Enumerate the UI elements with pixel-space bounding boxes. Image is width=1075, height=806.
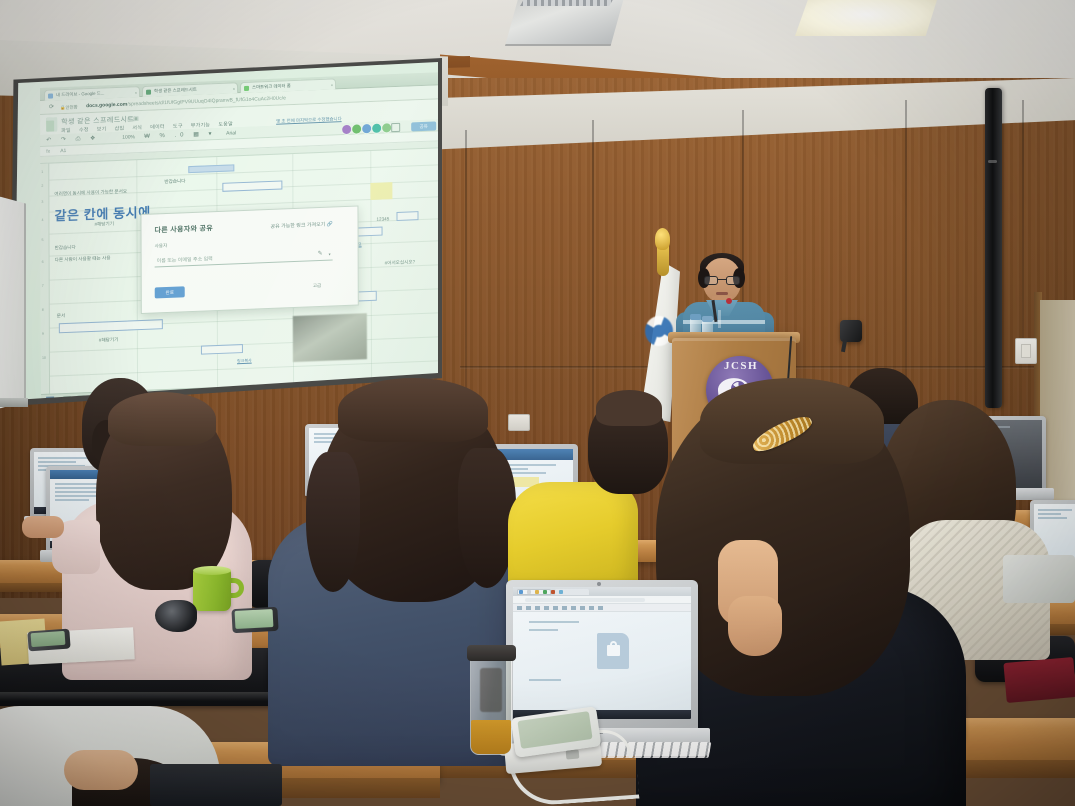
cell-input-box[interactable] [396, 211, 418, 221]
laptop-foreground[interactable] [506, 580, 698, 730]
presenter-placket [718, 310, 721, 328]
cell-input-box[interactable] [201, 344, 243, 355]
wall-outlet [508, 414, 530, 431]
water-bottle-cap [690, 314, 701, 320]
cell-reference[interactable]: A1 [60, 148, 66, 154]
green-mug [193, 569, 231, 611]
close-icon[interactable]: × [233, 86, 235, 91]
smartphone-mid-screen [235, 609, 274, 629]
bottle-cap [467, 645, 516, 661]
star-icon[interactable]: ☆ ▣ [126, 115, 139, 122]
attendee-yellow-torso [508, 482, 638, 588]
air-vent [505, 0, 625, 46]
cell-text: 12345 [376, 216, 389, 222]
webcam-icon [597, 582, 601, 586]
attendee-bottom-left-hand [64, 750, 138, 790]
favicon-icon [48, 93, 53, 98]
favicon-icon [146, 90, 151, 95]
fx-icon: fx [46, 149, 50, 155]
tea-liquid [471, 720, 511, 754]
reload-icon[interactable]: ⟳ [48, 104, 55, 111]
attendee-right-front-fingers [728, 596, 782, 656]
red-notebook [1003, 657, 1075, 703]
projected-browser-window: 내 드라이브 - Google 드... × 학생 같은 스프레드시트 × 스마… [40, 72, 438, 400]
whiteboard [0, 195, 26, 410]
close-icon[interactable]: × [331, 82, 333, 87]
flag-tassel [657, 246, 669, 276]
podium-logo-text: JCSH [714, 360, 768, 372]
cell-text: #해당기기 [99, 337, 118, 344]
cell-text: 반갑습니다 [164, 178, 185, 185]
air-vent-slot [520, 0, 615, 6]
browser-tab-label: 학생 같은 스프레드시트 [154, 86, 197, 93]
whiteboard-tray [0, 398, 28, 407]
laptop-bottom-left[interactable] [150, 764, 282, 806]
share-button[interactable]: 공유 [411, 121, 436, 131]
cell-text: #해당기기 [94, 221, 113, 228]
zoom-level[interactable]: 100% [122, 134, 135, 141]
browser-tab-label: 스마트워크 데이터 폼 [252, 83, 291, 90]
link-icon: 🔗 [327, 221, 333, 227]
url-host: docs.google.com [86, 102, 127, 110]
pencil-icon[interactable]: ✎ [318, 250, 323, 257]
share-dialog-section-label: 사용자 [155, 243, 168, 249]
wall-speaker [840, 320, 862, 342]
tea-bag [480, 668, 502, 712]
attendee-center-hair-left [306, 452, 360, 592]
browser-tab-label: 내 드라이브 - Google 드... [56, 90, 104, 97]
ceiling-light-panel [795, 0, 937, 36]
wall-switch[interactable] [1021, 344, 1031, 358]
attendee-back-left-hair-top [108, 392, 216, 446]
share-done-button[interactable]: 완료 [155, 286, 185, 298]
cell-text: #어서오십시오? [385, 259, 415, 266]
water-bottle-cap [702, 316, 713, 322]
projection-screen: 내 드라이브 - Google 드... × 학생 같은 스프레드시트 × 스마… [14, 62, 438, 400]
flag-finial [655, 228, 670, 250]
chair-highlight [0, 692, 304, 701]
sheets-doc-icon [46, 117, 57, 131]
font-name[interactable]: Arial [226, 130, 236, 136]
security-label: 안전함 [66, 105, 78, 110]
column-speaker [985, 88, 1002, 408]
mug-rim [193, 566, 231, 575]
cell-text: 반갑습니다 [55, 245, 76, 252]
wall-seam [1022, 100, 1024, 350]
presenter-mouth [716, 292, 728, 295]
tablet[interactable] [1003, 555, 1075, 603]
highlighted-cell[interactable] [370, 182, 392, 200]
glasses-icon [704, 276, 740, 285]
attendee-back-left-hand [22, 516, 64, 538]
chevron-down-icon[interactable]: ▾ [329, 252, 331, 257]
close-icon[interactable]: × [135, 90, 137, 95]
attendee-yellow-hair-top [596, 390, 662, 426]
share-advanced-link[interactable]: 고급 [313, 283, 321, 289]
seminar-room-photo: 내 드라이브 - Google 드... × 학생 같은 스프레드시트 × 스마… [0, 0, 1075, 806]
usb-port-icon [566, 749, 580, 759]
comments-icon[interactable] [391, 123, 400, 132]
smartphone-left-screen [31, 631, 66, 647]
attendee-center-hair-top [338, 378, 488, 442]
embedded-image [293, 313, 367, 362]
favicon-icon [244, 86, 249, 91]
microphone-head-icon [726, 298, 732, 304]
keychain [155, 600, 197, 632]
column-speaker-highlight [988, 160, 997, 163]
